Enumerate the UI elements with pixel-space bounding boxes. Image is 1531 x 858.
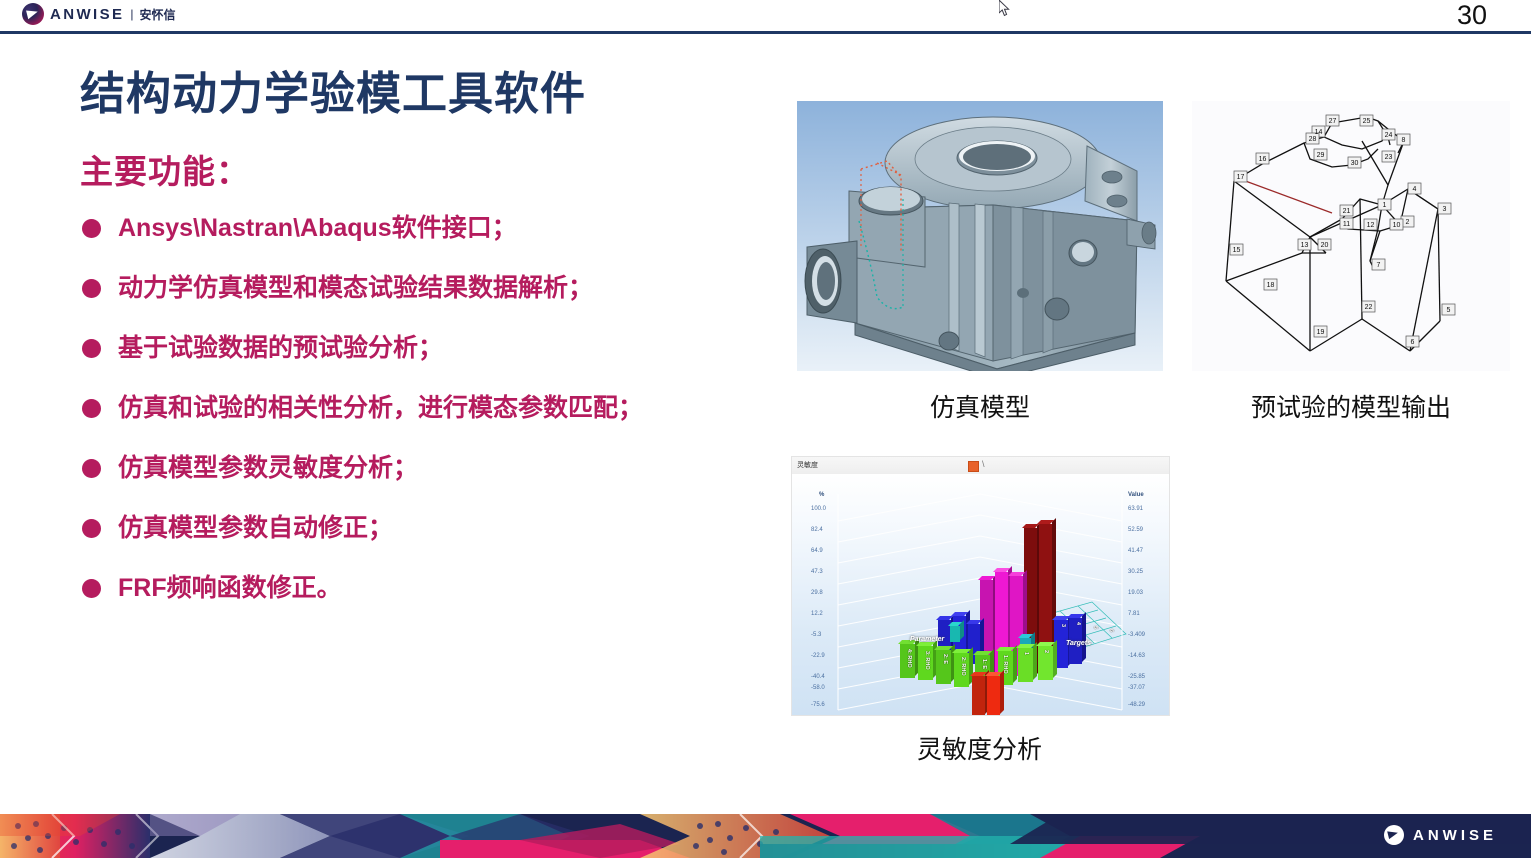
sensitivity-plot-area: % 100.0 82.4 64.9 47.3 29.8 12.2 -5.3 -2… bbox=[792, 474, 1169, 715]
sensitivity-chart-window[interactable]: 灵敏度 \ bbox=[791, 456, 1170, 716]
svg-text:11: 11 bbox=[1343, 221, 1350, 228]
y-tick: 64.9 bbox=[811, 548, 823, 554]
svg-text:4: 4 bbox=[1413, 186, 1417, 193]
svg-text:29: 29 bbox=[1317, 152, 1325, 159]
svg-text:30: 30 bbox=[1351, 160, 1359, 167]
svg-text:23: 23 bbox=[1385, 154, 1393, 161]
svg-text:18: 18 bbox=[1267, 282, 1275, 289]
svg-text:7: 7 bbox=[1377, 262, 1381, 269]
list-item: Ansys\Nastran\Abaqus软件接口； bbox=[82, 210, 802, 270]
value-tick: -37.07 bbox=[1128, 685, 1145, 691]
list-item: 仿真模型参数灵敏度分析； bbox=[82, 450, 802, 510]
y-tick: -40.4 bbox=[811, 674, 825, 680]
value-tick: 63.91 bbox=[1128, 506, 1143, 512]
value-tick: -48.29 bbox=[1128, 702, 1145, 708]
svg-text:22: 22 bbox=[1365, 304, 1373, 311]
target-label: 5 bbox=[1092, 626, 1098, 629]
list-item-label: FRF频响函数修正。 bbox=[118, 570, 342, 606]
y-tick: -5.3 bbox=[811, 632, 821, 638]
list-item: 仿真和试验的相关性分析，进行模态参数匹配； bbox=[82, 390, 802, 450]
svg-text:14: 14 bbox=[1315, 129, 1323, 136]
y-tick: -58.0 bbox=[811, 685, 825, 691]
pretest-mesh-caption: 预试验的模型输出 bbox=[1192, 388, 1510, 424]
value-tick: 30.25 bbox=[1128, 569, 1143, 575]
category-label: 4: RHO bbox=[906, 649, 912, 668]
svg-text:19: 19 bbox=[1317, 329, 1325, 336]
pretest-wireframe-illustration: 12 34 56 78 1011 1213 1415 1617 1819 202… bbox=[1192, 101, 1510, 371]
svg-text:1: 1 bbox=[1383, 202, 1387, 209]
brand-name-cn: 安怀信 bbox=[140, 6, 176, 23]
svg-text:2: 2 bbox=[1406, 219, 1410, 226]
svg-text:24: 24 bbox=[1385, 132, 1393, 139]
list-item-label: 仿真模型参数灵敏度分析； bbox=[118, 450, 418, 486]
brand-name: ANWISE bbox=[50, 6, 124, 23]
bar-red-1 bbox=[972, 676, 985, 716]
cad-model-caption: 仿真模型 bbox=[797, 388, 1163, 424]
category-label: 1: E bbox=[981, 659, 987, 669]
svg-text:10: 10 bbox=[1393, 222, 1401, 229]
footer-decoration bbox=[0, 814, 1531, 858]
bullet-dot-icon bbox=[82, 519, 101, 538]
cad-model-image bbox=[797, 101, 1163, 371]
stop-icon[interactable] bbox=[968, 461, 979, 472]
svg-text:13: 13 bbox=[1301, 242, 1309, 249]
list-item-label: Ansys\Nastran\Abaqus软件接口； bbox=[118, 210, 517, 246]
footer-brand-name: ANWISE bbox=[1413, 827, 1497, 844]
targets-axis-title: Targets bbox=[1066, 640, 1091, 647]
bullet-dot-icon bbox=[82, 579, 101, 598]
feature-list: Ansys\Nastran\Abaqus软件接口； 动力学仿真模型和模态试验结果… bbox=[82, 210, 802, 630]
list-item: FRF频响函数修正。 bbox=[82, 570, 802, 630]
svg-text:8: 8 bbox=[1402, 137, 1406, 144]
target-label: 4 bbox=[1075, 622, 1081, 625]
category-label: 3: RHO bbox=[924, 651, 930, 670]
sensitivity-chart-caption: 灵敏度分析 bbox=[791, 730, 1168, 766]
value-tick: 41.47 bbox=[1128, 548, 1143, 554]
section-subtitle: 主要功能： bbox=[80, 145, 250, 193]
footer-bar: ANWISE bbox=[0, 814, 1531, 858]
list-item: 基于试验数据的预试验分析； bbox=[82, 330, 802, 390]
anwise-logo-icon bbox=[22, 3, 44, 25]
list-item-label: 动力学仿真模型和模态试验结果数据解析； bbox=[118, 270, 593, 306]
target-label: 6 bbox=[1108, 629, 1114, 632]
svg-text:5: 5 bbox=[1447, 307, 1451, 314]
y-tick: 100.0 bbox=[811, 506, 826, 512]
svg-text:28: 28 bbox=[1309, 136, 1317, 143]
value-tick: -25.85 bbox=[1128, 674, 1145, 680]
slide-canvas: ANWISE | 安怀信 30 结构动力学验模工具软件 主要功能： Ansys\… bbox=[0, 0, 1531, 858]
category-label: 2: RHO bbox=[960, 657, 966, 676]
svg-text:20: 20 bbox=[1321, 242, 1329, 249]
top-bar: ANWISE | 安怀信 30 bbox=[0, 0, 1531, 34]
y-tick: 12.2 bbox=[811, 611, 823, 617]
cad-model-illustration bbox=[797, 101, 1163, 371]
svg-text:16: 16 bbox=[1259, 156, 1267, 163]
chart-window-titlebar: 灵敏度 \ bbox=[792, 457, 1169, 475]
separator-glyph: \ bbox=[982, 459, 985, 469]
y-tick: 29.8 bbox=[811, 590, 823, 596]
y-tick: 82.4 bbox=[811, 527, 823, 533]
svg-text:21: 21 bbox=[1343, 208, 1351, 215]
chart-window-title: 灵敏度 bbox=[797, 460, 818, 470]
list-item: 仿真模型参数自动修正； bbox=[82, 510, 802, 570]
svg-text:3: 3 bbox=[1443, 206, 1447, 213]
page-number: 30 bbox=[1457, 0, 1487, 31]
pretest-mesh-image: 12 34 56 78 1011 1213 1415 1617 1819 202… bbox=[1192, 101, 1510, 371]
y-tick: -75.6 bbox=[811, 702, 825, 708]
target-label: 3 bbox=[1060, 624, 1066, 627]
value-tick: -3.409 bbox=[1128, 632, 1145, 638]
bar-red-2 bbox=[987, 676, 1000, 716]
bullet-dot-icon bbox=[82, 459, 101, 478]
anwise-logo-icon bbox=[1384, 825, 1404, 845]
parameter-axis-title: Parameter bbox=[910, 636, 944, 643]
category-label: 2: E bbox=[942, 654, 948, 664]
svg-text:6: 6 bbox=[1411, 339, 1415, 346]
bullet-dot-icon bbox=[82, 339, 101, 358]
list-item-label: 仿真模型参数自动修正； bbox=[118, 510, 393, 546]
svg-text:17: 17 bbox=[1237, 174, 1245, 181]
value-tick: -14.63 bbox=[1128, 653, 1145, 659]
value-axis-title: Value bbox=[1128, 492, 1144, 498]
bar-teal-1 bbox=[950, 626, 960, 642]
value-tick: 19.03 bbox=[1128, 590, 1143, 596]
svg-text:27: 27 bbox=[1329, 118, 1337, 125]
list-item: 动力学仿真模型和模态试验结果数据解析； bbox=[82, 270, 802, 330]
target-label: 2 bbox=[1043, 650, 1049, 653]
svg-text:15: 15 bbox=[1233, 247, 1241, 254]
value-tick: 7.81 bbox=[1128, 611, 1140, 617]
value-tick: 52.59 bbox=[1128, 527, 1143, 533]
brand-separator: | bbox=[130, 7, 133, 21]
list-item-label: 仿真和试验的相关性分析，进行模态参数匹配； bbox=[118, 390, 643, 426]
svg-text:25: 25 bbox=[1363, 118, 1371, 125]
y-tick: -22.9 bbox=[811, 653, 825, 659]
y-tick: 47.3 bbox=[811, 569, 823, 575]
target-label: 1 bbox=[1023, 652, 1029, 655]
y-axis-title: % bbox=[819, 492, 824, 498]
bullet-dot-icon bbox=[82, 399, 101, 418]
list-item-label: 基于试验数据的预试验分析； bbox=[118, 330, 443, 366]
bullet-dot-icon bbox=[82, 279, 101, 298]
bullet-dot-icon bbox=[82, 219, 101, 238]
footer-brand-logo: ANWISE bbox=[1384, 825, 1497, 845]
page-title: 结构动力学验模工具软件 bbox=[80, 57, 586, 122]
brand-logo: ANWISE | 安怀信 bbox=[22, 3, 176, 25]
svg-text:12: 12 bbox=[1367, 222, 1375, 229]
category-label: 1: RHO bbox=[1002, 655, 1008, 674]
